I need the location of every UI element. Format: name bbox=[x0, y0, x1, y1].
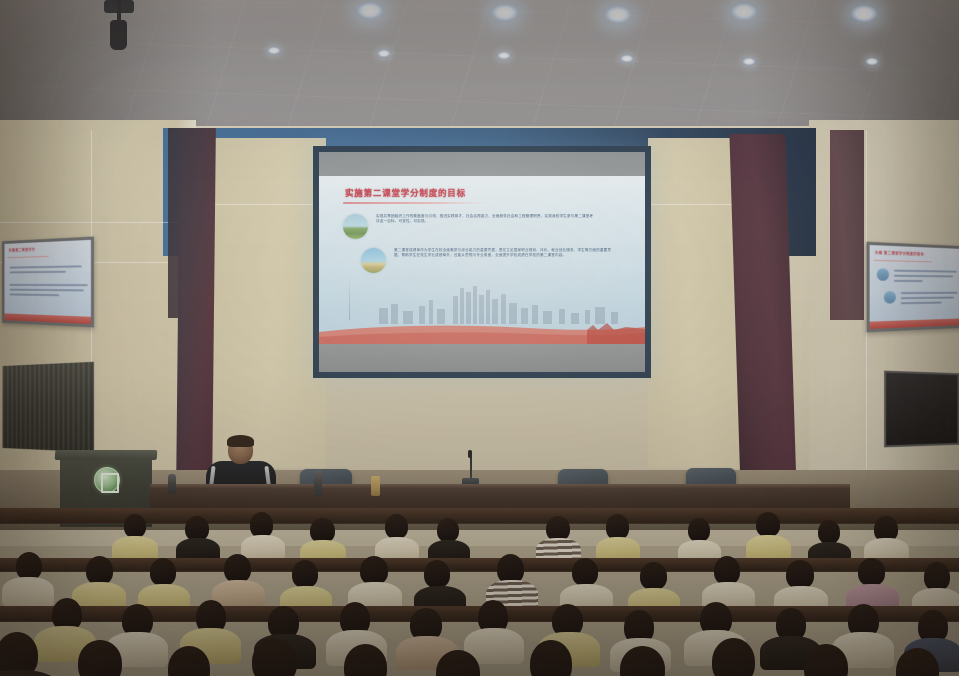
audience-head bbox=[786, 560, 814, 589]
audience-head bbox=[424, 560, 450, 588]
wall-seam bbox=[196, 204, 326, 205]
audience-head bbox=[360, 556, 388, 585]
slide-title-underline bbox=[343, 202, 487, 204]
audience-head bbox=[16, 552, 42, 580]
audience-seating bbox=[0, 500, 959, 676]
audience-head bbox=[640, 562, 667, 590]
lectern-top bbox=[55, 450, 158, 460]
right-monitor-text-line bbox=[901, 292, 958, 294]
audience-head bbox=[688, 518, 710, 542]
audience-head bbox=[572, 558, 598, 586]
right-monitor-text-line bbox=[894, 270, 957, 273]
bench-desk bbox=[0, 558, 959, 572]
ceiling-light-mid bbox=[621, 55, 633, 62]
water-bottle bbox=[314, 470, 322, 496]
right-monitor-icon bbox=[877, 268, 889, 281]
left-monitor-text-line bbox=[10, 271, 66, 273]
curtain-far-right bbox=[830, 130, 864, 320]
audience-head bbox=[818, 520, 840, 544]
audience-head bbox=[858, 558, 885, 586]
right-monitor-wave bbox=[870, 318, 959, 329]
left-monitor-text-line bbox=[10, 293, 60, 295]
ceiling-shadow-right bbox=[729, 0, 959, 132]
ceiling-light-mid bbox=[378, 50, 390, 57]
microphone-capsule bbox=[468, 450, 472, 458]
right-wall-display bbox=[884, 371, 959, 448]
right-monitor-text-line bbox=[894, 275, 953, 277]
projector-head bbox=[110, 20, 127, 50]
right-monitor-text-line bbox=[901, 297, 954, 299]
left-wall-alcove bbox=[3, 362, 95, 452]
audience-head bbox=[714, 556, 740, 585]
right-wall-monitor: 大纲 第二课堂学分制度的目标 bbox=[867, 242, 959, 333]
left-monitor-screen: 实施第二课堂学分 bbox=[4, 240, 90, 324]
water-bottle bbox=[168, 474, 176, 494]
right-monitor-text-line bbox=[894, 280, 923, 282]
slide-bullet: 第二课堂成绩单作为学生在校全面素质与综合能力的重要凭据，是在立足国家职业规划、评… bbox=[361, 248, 612, 273]
stage-panel-left bbox=[196, 138, 326, 468]
ceiling-light-bright bbox=[731, 3, 757, 20]
audience-head bbox=[86, 556, 113, 585]
alcove-slats bbox=[3, 362, 95, 452]
university-crest-green-icon bbox=[94, 467, 120, 493]
right-monitor-screen: 大纲 第二课堂学分制度的目标 bbox=[870, 245, 959, 329]
audience-head bbox=[224, 554, 251, 583]
ceiling-light-mid bbox=[268, 47, 280, 54]
ceiling-light-bright bbox=[492, 4, 518, 21]
left-monitor-text-line bbox=[10, 289, 84, 291]
right-monitor-text-line bbox=[901, 302, 942, 304]
head-table-edge bbox=[150, 484, 850, 488]
curtain-left bbox=[176, 128, 216, 488]
audience-torso bbox=[2, 577, 54, 607]
presentation-slide: 实施第二课堂学分制度的目标 实现共青团组织工作的覆盖度与引领，推进实践育才，社会… bbox=[319, 176, 645, 344]
wall-seam bbox=[0, 222, 196, 223]
ceiling-light-mid bbox=[743, 58, 755, 65]
slide-title: 实施第二课堂学分制度的目标 bbox=[345, 187, 466, 199]
ceiling-light-bright bbox=[851, 5, 877, 22]
screen-letterbox-top bbox=[319, 152, 645, 176]
slide-bullet: 实现共青团组织工作的覆盖度与引领，推进实践育才，社会实践能力、全面服务社会和工程… bbox=[343, 214, 594, 239]
left-wall-monitor: 实施第二课堂学分 bbox=[2, 237, 94, 328]
projection-screen-surface: 实施第二课堂学分制度的目标 实现共青团组织工作的覆盖度与引领，推进实践育才，社会… bbox=[319, 152, 645, 372]
landscape-green-icon bbox=[343, 214, 368, 239]
audience-head bbox=[124, 514, 146, 538]
right-monitor-icon bbox=[884, 291, 896, 303]
left-monitor-rule bbox=[8, 256, 49, 258]
slide-red-wave bbox=[319, 322, 645, 344]
landscape-blue-icon bbox=[361, 248, 386, 273]
ceiling bbox=[0, 0, 959, 132]
audience-torso bbox=[0, 670, 60, 676]
lecture-hall-photo: 实施第二课堂学分制度的目标 实现共青团组织工作的覆盖度与引领，推进实践育才，社会… bbox=[0, 0, 959, 676]
audience-head bbox=[150, 558, 176, 586]
right-monitor-title: 大纲 第二课堂学分制度的目标 bbox=[875, 249, 924, 256]
audience-head bbox=[292, 560, 318, 588]
ceiling-light-mid bbox=[498, 52, 510, 59]
audience-head bbox=[385, 514, 408, 539]
screen-letterbox-bottom bbox=[319, 344, 645, 372]
audience-head bbox=[756, 512, 780, 537]
slide-bullet-text: 第二课堂成绩单作为学生在校全面素质与综合能力的重要凭据，是在立足国家职业规划、评… bbox=[394, 248, 612, 259]
audience-head bbox=[712, 638, 755, 676]
city-skyline-silhouette bbox=[319, 278, 645, 324]
left-monitor-text-line bbox=[10, 284, 88, 286]
ceiling-light-bright bbox=[357, 2, 383, 19]
ceiling-light-bright bbox=[605, 6, 631, 23]
curtain-right bbox=[729, 134, 796, 492]
projector-mount-arm bbox=[117, 0, 121, 22]
audience-head bbox=[437, 518, 459, 542]
projection-screen: 实施第二课堂学分制度的目标 实现共青团组织工作的覆盖度与引领，推进实践育才，社会… bbox=[313, 146, 651, 378]
seated-speaker-hair bbox=[227, 435, 254, 447]
right-monitor-rule bbox=[874, 260, 932, 262]
ceiling-light-mid bbox=[866, 58, 878, 65]
tea-cup bbox=[371, 476, 380, 496]
slide-bullet-text: 实现共青团组织工作的覆盖度与引领，推进实践育才，社会实践能力、全面服务社会和工程… bbox=[376, 214, 594, 225]
left-monitor-text-line bbox=[10, 265, 82, 268]
left-monitor-title: 实施第二课堂学分 bbox=[9, 246, 36, 252]
audience-head bbox=[924, 562, 950, 591]
left-monitor-wave bbox=[4, 313, 90, 324]
